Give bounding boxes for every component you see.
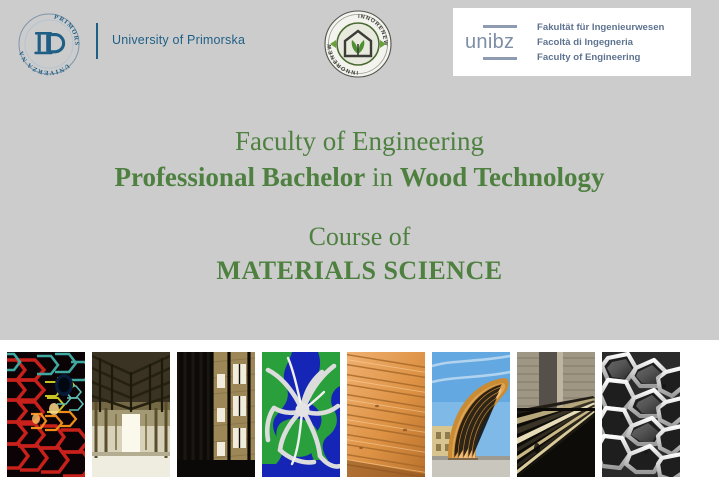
thumbnail-wood-sem-honeycomb-micrograph [602, 352, 680, 477]
unibz-logo: unibz Fakultät für Ingenieurwesen Facolt… [453, 8, 691, 76]
thumbnail-dark-timber-facade [177, 352, 255, 477]
unibz-rule-bottom [483, 57, 517, 60]
thumbnail-timber-interior-perspective [517, 352, 595, 477]
programme-connector: in [365, 162, 400, 192]
thumbnail-red-cellular-tunnel-render [7, 352, 85, 477]
faculty-line-en: Faculty of Engineering [537, 50, 691, 65]
course-name: MATERIALS SCIENCE [0, 254, 719, 288]
faculty-title: Faculty of Engineering [0, 124, 719, 158]
unibz-faculty-lines: Fakultät für Ingenieurwesen Facoltà di I… [531, 20, 691, 65]
programme-field: Wood Technology [400, 162, 605, 192]
unibz-wordmark: unibz [465, 31, 514, 54]
univerza-na-primorskem-seal: PRIMORSKEM UNIVERZA NA [13, 8, 85, 80]
innorenew-coe-seal: INNORENEW COE INNORENEW COE [318, 4, 402, 84]
unibz-wordmark-group: unibz [453, 25, 531, 60]
course-of-label: Course of [0, 220, 719, 254]
slide-header: PRIMORSKEM UNIVERZA NA University of Pri… [0, 0, 719, 90]
unibz-rule-top [483, 25, 517, 28]
thumbnail-curved-plywood-pavilion [432, 352, 510, 477]
university-name: University of Primorska [112, 33, 245, 47]
thumbnail-blue-green-fiber-micrograph [262, 352, 340, 477]
thumbnail-row [7, 352, 680, 477]
presentation-slide: PRIMORSKEM UNIVERZA NA University of Pri… [0, 0, 719, 484]
faculty-line-it: Facoltà di Ingegneria [537, 35, 691, 50]
title-block: Faculty of Engineering Professional Bach… [0, 124, 719, 288]
image-strip [0, 340, 719, 484]
faculty-line-de: Fakultät für Ingenieurwesen [537, 20, 691, 35]
header-divider [96, 23, 98, 59]
thumbnail-timber-barn-interior [92, 352, 170, 477]
programme-degree: Professional Bachelor [114, 162, 365, 192]
thumbnail-wood-cladding-detail [347, 352, 425, 477]
programme-title: Professional Bachelor in Wood Technology [0, 160, 719, 194]
